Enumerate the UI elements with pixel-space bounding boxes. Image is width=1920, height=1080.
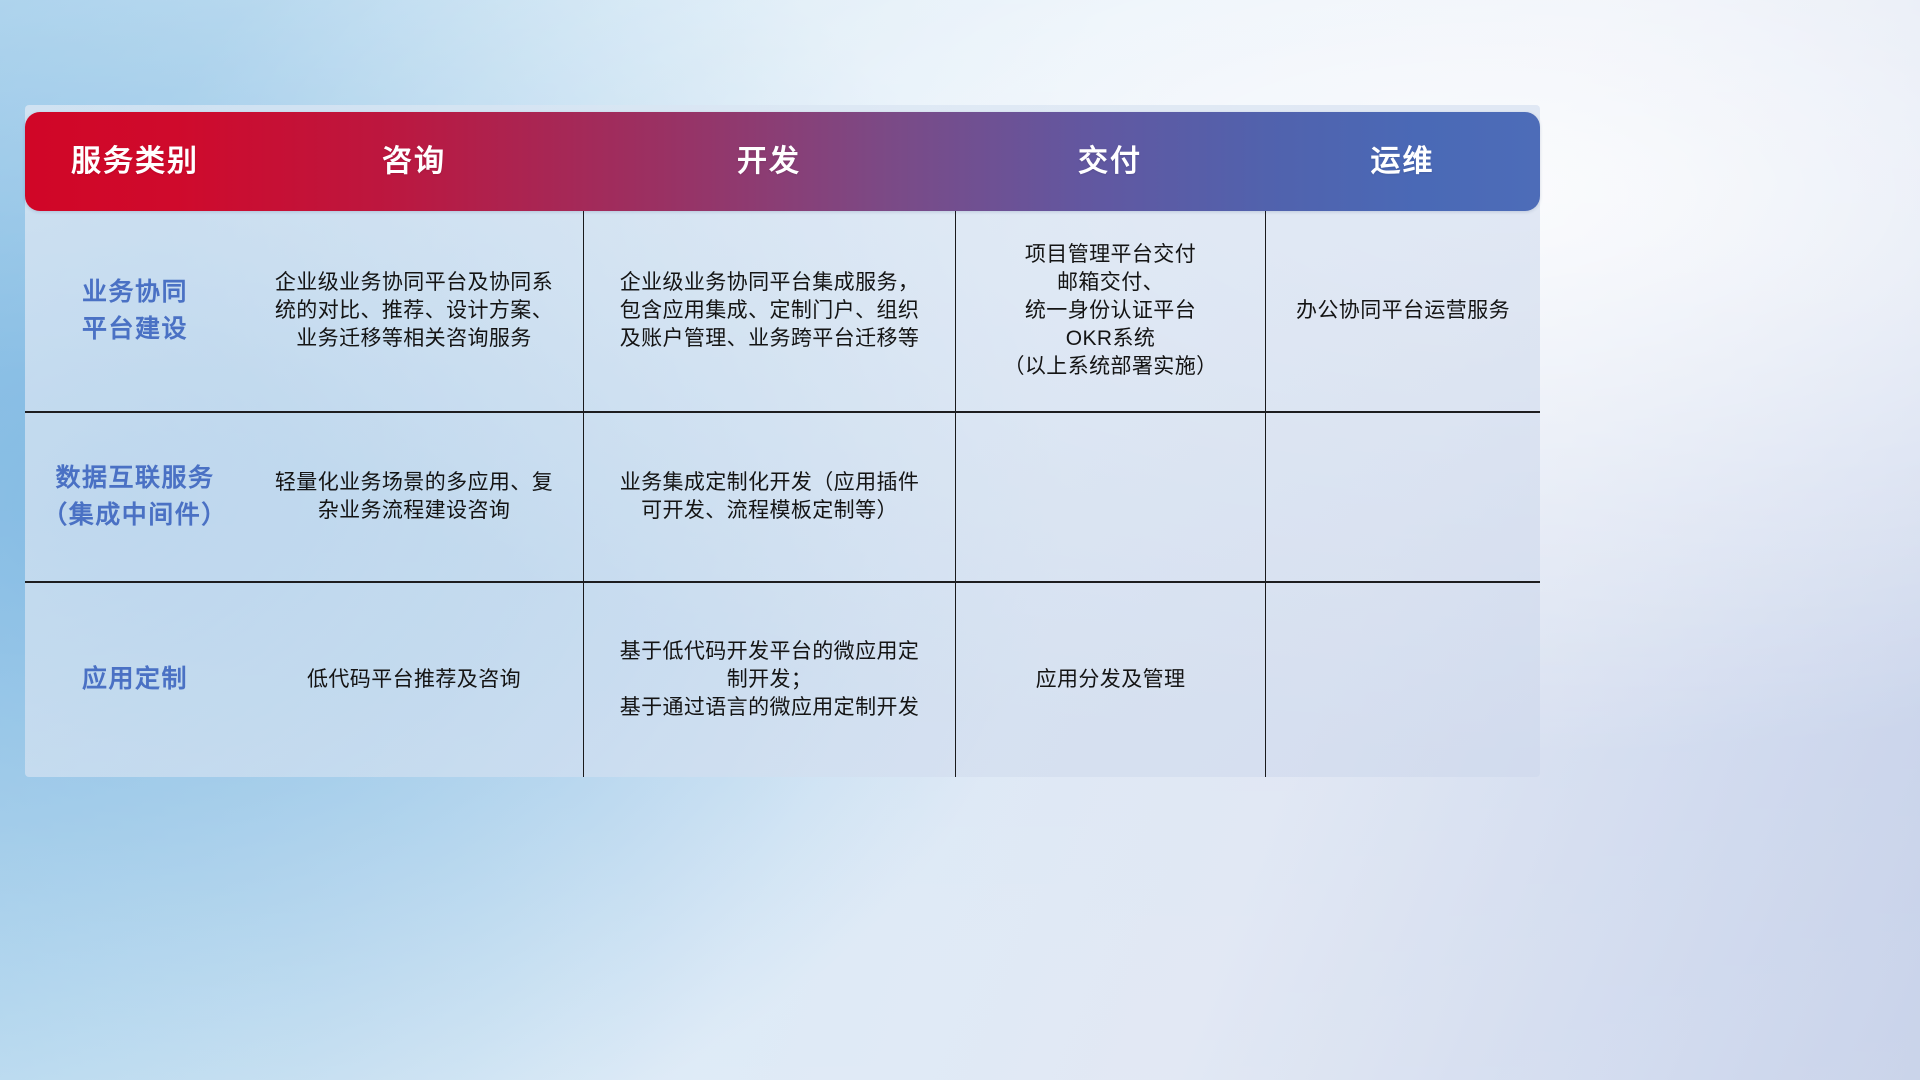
cell-operations — [1265, 583, 1540, 777]
cell-delivery: 应用分发及管理 — [955, 583, 1265, 777]
cell-delivery: 项目管理平台交付 邮箱交付、 统一身份认证平台 OKR系统 （以上系统部署实施） — [955, 211, 1265, 411]
table-header-row: 服务类别 咨询 开发 交付 运维 — [25, 112, 1540, 211]
service-matrix-table: 服务类别 咨询 开发 交付 运维 业务协同 平台建设 企业级业务协同平台及协同系… — [25, 105, 1540, 777]
cell-development: 企业级业务协同平台集成服务， 包含应用集成、定制门户、组织 及账户管理、业务跨平… — [583, 211, 955, 411]
cell-category: 应用定制 — [25, 583, 245, 777]
column-header-consulting: 咨询 — [245, 147, 583, 177]
column-header-category: 服务类别 — [25, 147, 245, 177]
column-header-development: 开发 — [583, 147, 955, 177]
table-row: 业务协同 平台建设 企业级业务协同平台及协同系 统的对比、推荐、设计方案、 业务… — [25, 211, 1540, 411]
cell-development: 业务集成定制化开发（应用插件 可开发、流程模板定制等） — [583, 413, 955, 581]
cell-consulting: 低代码平台推荐及咨询 — [245, 583, 583, 777]
cell-operations: 办公协同平台运营服务 — [1265, 211, 1540, 411]
cell-consulting: 企业级业务协同平台及协同系 统的对比、推荐、设计方案、 业务迁移等相关咨询服务 — [245, 211, 583, 411]
table-row: 数据互联服务 （集成中间件） 轻量化业务场景的多应用、复 杂业务流程建设咨询 业… — [25, 411, 1540, 581]
cell-development: 基于低代码开发平台的微应用定 制开发； 基于通过语言的微应用定制开发 — [583, 583, 955, 777]
cell-consulting: 轻量化业务场景的多应用、复 杂业务流程建设咨询 — [245, 413, 583, 581]
table-body: 业务协同 平台建设 企业级业务协同平台及协同系 统的对比、推荐、设计方案、 业务… — [25, 211, 1540, 777]
cell-operations — [1265, 413, 1540, 581]
cell-category: 业务协同 平台建设 — [25, 211, 245, 411]
cell-delivery — [955, 413, 1265, 581]
column-header-operations: 运维 — [1265, 147, 1540, 177]
column-header-delivery: 交付 — [955, 147, 1265, 177]
cell-category: 数据互联服务 （集成中间件） — [25, 413, 245, 581]
table-row: 应用定制 低代码平台推荐及咨询 基于低代码开发平台的微应用定 制开发； 基于通过… — [25, 581, 1540, 777]
